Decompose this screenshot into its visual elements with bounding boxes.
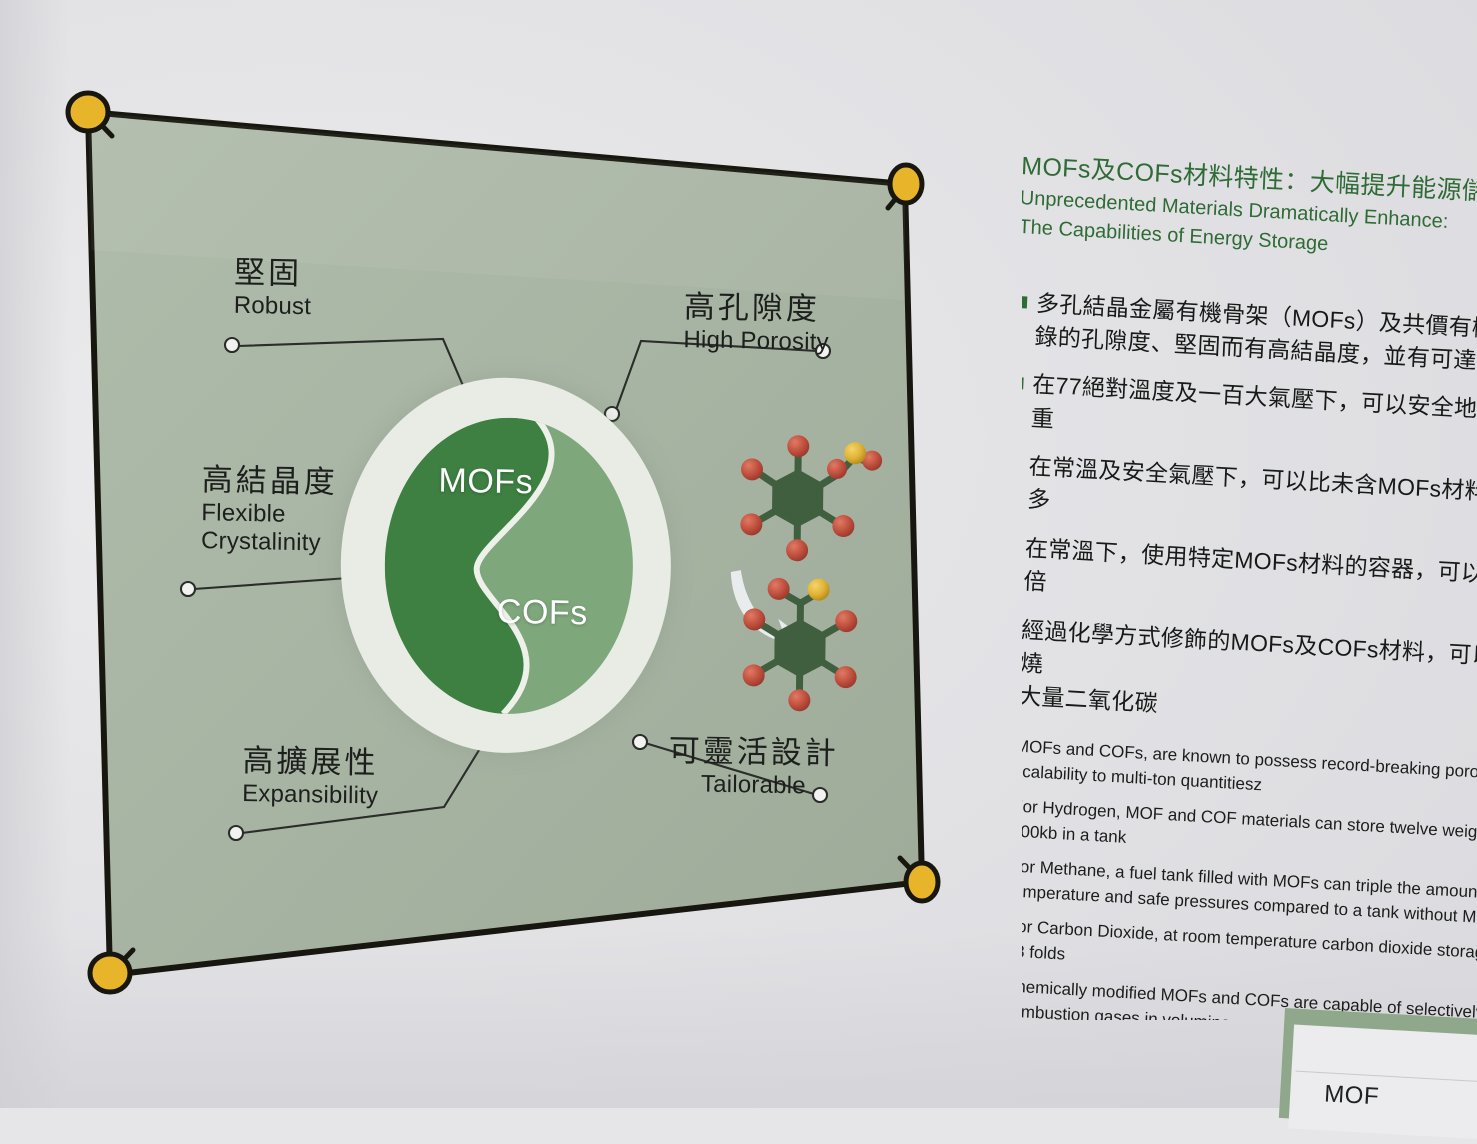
dot-robust-ring: [470, 406, 484, 420]
panel-title: MOFs及COFs材料特性：大幅提升能源儲存能 Unprecedented Ma…: [1022, 150, 1477, 273]
card-label: MOF: [1323, 1080, 1379, 1111]
dot-tailorable-ring: [633, 735, 647, 749]
dot-porosity-label: [816, 344, 830, 358]
bullets-english: MOFs and COFs, are known to possess reco…: [1022, 732, 1477, 1020]
bullet-square-icon: [1022, 296, 1027, 309]
right-text-panel: MOFs及COFs材料特性：大幅提升能源儲存能 Unprecedented Ma…: [1022, 150, 1477, 1020]
bullet-zh-text: 在77絕對溫度及一百大氣壓下，可以安全地儲存12重: [1030, 368, 1477, 465]
pin-bottom-left: [90, 954, 130, 992]
bullet-zh-text: 在常溫及安全氣壓下，可以比未含MOFs材料的容器多: [1026, 450, 1477, 547]
board-frame-svg: [0, 0, 1000, 1030]
dot-porosity-ring: [605, 407, 619, 421]
pin-bottom-right: [906, 863, 938, 901]
bullet-zh-item: 在常溫下，使用特定MOFs材料的容器，可以增加18倍: [1022, 530, 1477, 628]
bottom-right-card: MOF: [1279, 1008, 1477, 1132]
dot-expansibility-ring: [480, 730, 494, 744]
dot-robust-label: [225, 338, 239, 352]
bullet-zh-text: 在常溫下，使用特定MOFs材料的容器，可以增加18倍: [1023, 532, 1477, 629]
bullet-zh-item: 在常溫及安全氣壓下，可以比未含MOFs材料的容器多: [1022, 449, 1477, 547]
pin-top-left: [68, 93, 108, 131]
dot-flexible-label: [181, 582, 195, 596]
bullets-chinese: 多孔結晶金屬有機骨架（MOFs）及共價有機骨架（ 錄的孔隙度、堅固而有高結晶度，…: [1022, 286, 1477, 744]
bullet-zh-text: 多孔結晶金屬有機骨架（MOFs）及共價有機骨架（ 錄的孔隙度、堅固而有高結晶度，…: [1034, 287, 1477, 384]
dot-flexible-ring: [361, 569, 375, 583]
dot-expansibility-label: [229, 826, 243, 840]
bullet-zh-item: 經過化學方式修飾的MOFs及COFs材料，可以從燃燒 大量二氧化碳: [1022, 612, 1477, 743]
right-text-clip: MOFs及COFs材料特性：大幅提升能源儲存能 Unprecedented Ma…: [1022, 150, 1477, 1020]
exhibit-board: MOFs COFs 堅固 Robust 高孔隙度 High Porosity 高…: [0, 0, 1000, 1030]
bullet-zh-item: 在77絕對溫度及一百大氣壓下，可以安全地儲存12重: [1022, 367, 1477, 465]
bullet-square-icon: [1022, 377, 1024, 390]
dot-tailorable-label: [813, 788, 827, 802]
bullet-zh-text: 經過化學方式修飾的MOFs及COFs材料，可以從燃燒 大量二氧化碳: [1022, 613, 1477, 743]
card-white-face: [1288, 1025, 1477, 1144]
bullet-zh-item: 多孔結晶金屬有機骨架（MOFs）及共價有機骨架（ 錄的孔隙度、堅固而有高結晶度，…: [1022, 286, 1477, 384]
pin-top-right: [890, 165, 922, 203]
